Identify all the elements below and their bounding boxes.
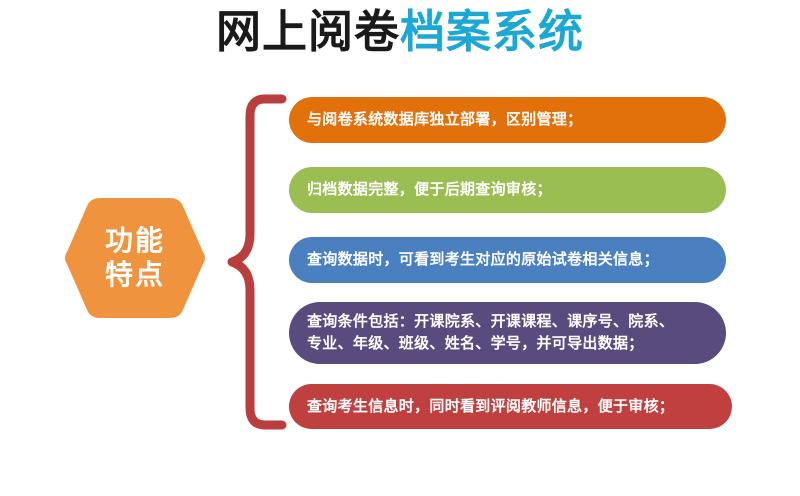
list-item[interactable]: 查询条件包括：开课院系、开课课程、课序号、院系、专业、年级、班级、姓名、学号，并… — [289, 302, 726, 364]
list-item-text: 归档数据完整，便于后期查询审核； — [307, 179, 552, 201]
list-item[interactable]: 归档数据完整，便于后期查询审核； — [289, 167, 726, 213]
hexagon-shape — [62, 195, 208, 321]
list-item-text: 查询条件包括：开课院系、开课课程、课序号、院系、专业、年级、班级、姓名、学号，并… — [307, 311, 674, 355]
list-item-text: 查询考生信息时，同时看到评阅教师信息，便于审核； — [307, 396, 674, 418]
curly-brace-connector — [210, 92, 290, 432]
list-item[interactable]: 与阅卷系统数据库独立部署，区别管理； — [289, 97, 726, 143]
hexagon-badge: 功能 特点 — [62, 195, 208, 321]
list-item[interactable]: 查询考生信息时，同时看到评阅教师信息，便于审核； — [289, 384, 732, 429]
list-item-text: 与阅卷系统数据库独立部署，区别管理； — [307, 109, 582, 131]
slide-canvas: 网上阅卷档案系统 功能 特点 与阅卷系统数据库独立部署，区别管理； 归档数据完整… — [0, 0, 800, 496]
list-item[interactable]: 查询数据时，可看到考生对应的原始试卷相关信息； — [289, 237, 726, 283]
feature-list: 与阅卷系统数据库独立部署，区别管理； 归档数据完整，便于后期查询审核； 查询数据… — [289, 0, 729, 496]
list-item-text: 查询数据时，可看到考生对应的原始试卷相关信息； — [307, 249, 659, 271]
curly-brace-icon — [210, 92, 290, 432]
